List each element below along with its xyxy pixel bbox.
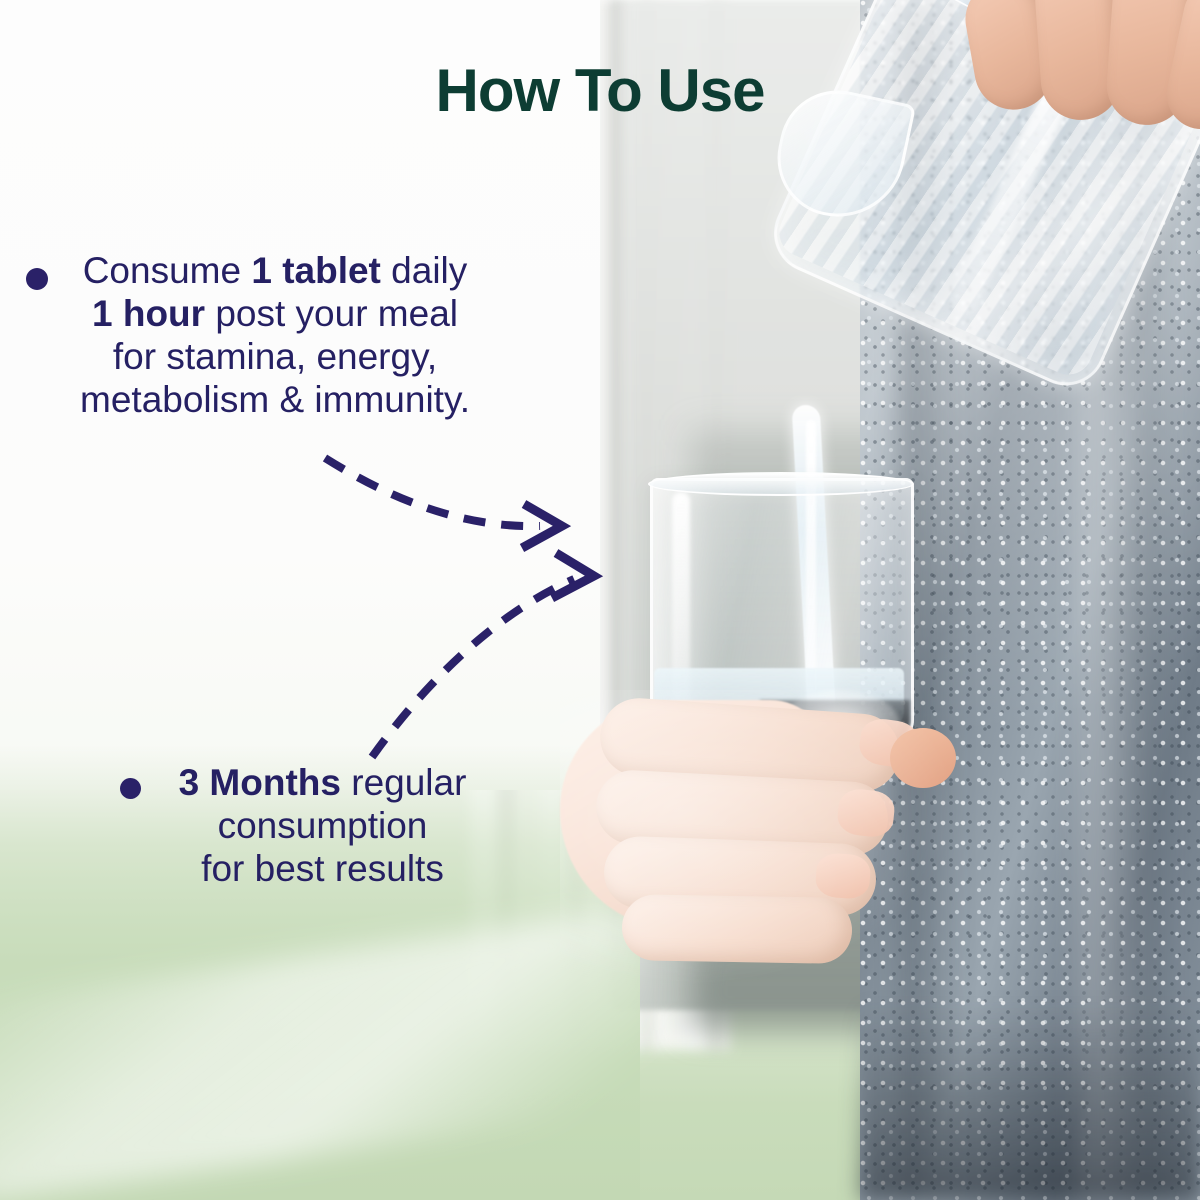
bullet-dot-2 xyxy=(120,778,141,799)
usage-instruction-1-lines: Consume 1 tablet daily 1 hour post your … xyxy=(60,250,490,422)
arrow-to-glass-upper xyxy=(325,458,540,526)
instruction-line: for stamina, energy, xyxy=(60,336,490,379)
usage-instruction-2: 3 Months regular consumption for best re… xyxy=(160,762,485,891)
instruction-line: Consume 1 tablet daily xyxy=(60,250,490,293)
arrow-to-glass-lower xyxy=(372,579,574,757)
text-segment: Consume xyxy=(83,250,252,291)
bullet-dot-1 xyxy=(26,268,48,290)
arrowhead-upper-icon xyxy=(522,504,562,548)
instruction-line: for best results xyxy=(160,848,485,891)
instruction-line: metabolism & immunity. xyxy=(60,379,490,422)
text-segment: metabolism & immunity. xyxy=(80,379,470,420)
text-segment: consumption xyxy=(218,805,428,846)
how-to-use-graphic: How To Use Consume 1 tablet daily 1 hour… xyxy=(0,0,1200,1200)
text-segment: daily xyxy=(381,250,467,291)
instruction-line: consumption xyxy=(160,805,485,848)
text-segment-bold: 1 hour xyxy=(92,293,205,334)
text-segment-bold: 3 Months xyxy=(179,762,341,803)
text-segment: for best results xyxy=(201,848,444,889)
text-segment: regular xyxy=(341,762,466,803)
usage-instruction-1: Consume 1 tablet daily 1 hour post your … xyxy=(60,250,490,422)
text-segment: post your meal xyxy=(205,293,458,334)
arrow-layer xyxy=(0,0,1200,1200)
instruction-line: 3 Months regular xyxy=(160,762,485,805)
usage-instruction-2-lines: 3 Months regular consumption for best re… xyxy=(160,762,485,891)
text-segment-bold: 1 tablet xyxy=(251,250,381,291)
arrowhead-lower-icon xyxy=(552,553,594,598)
instruction-line: 1 hour post your meal xyxy=(60,293,490,336)
text-segment: for stamina, energy, xyxy=(113,336,437,377)
